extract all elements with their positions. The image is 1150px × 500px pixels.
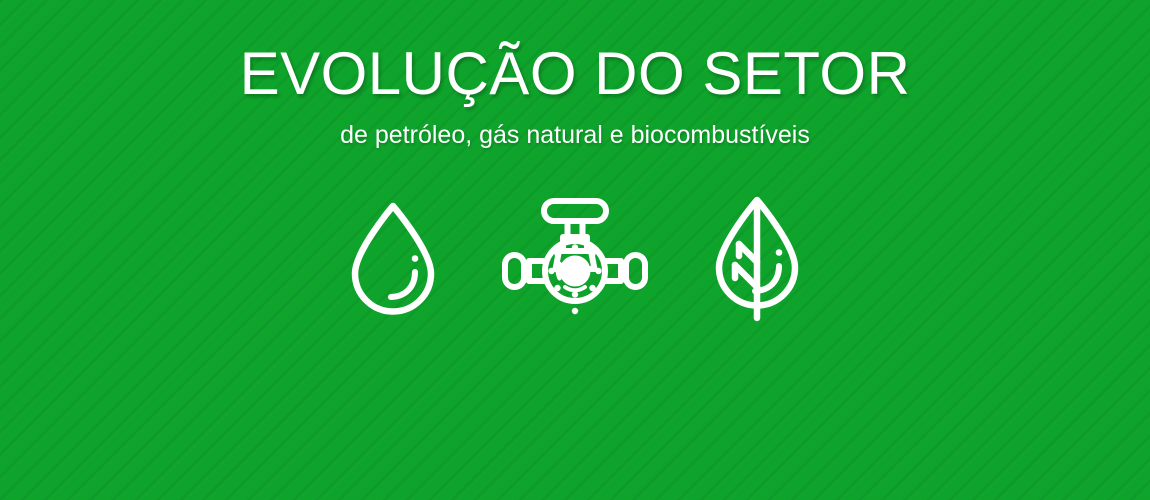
icon-row [347, 194, 803, 324]
oil-drop-icon [347, 200, 439, 318]
banner-content: EVOLUÇÃO DO SETOR de petróleo, gás natur… [0, 0, 1150, 500]
banner: EVOLUÇÃO DO SETOR de petróleo, gás natur… [0, 0, 1150, 500]
leaf-icon [711, 194, 803, 324]
page-title: EVOLUÇÃO DO SETOR [240, 44, 911, 104]
gas-valve-icon [499, 197, 651, 321]
page-subtitle: de petróleo, gás natural e biocombustíve… [340, 122, 810, 150]
